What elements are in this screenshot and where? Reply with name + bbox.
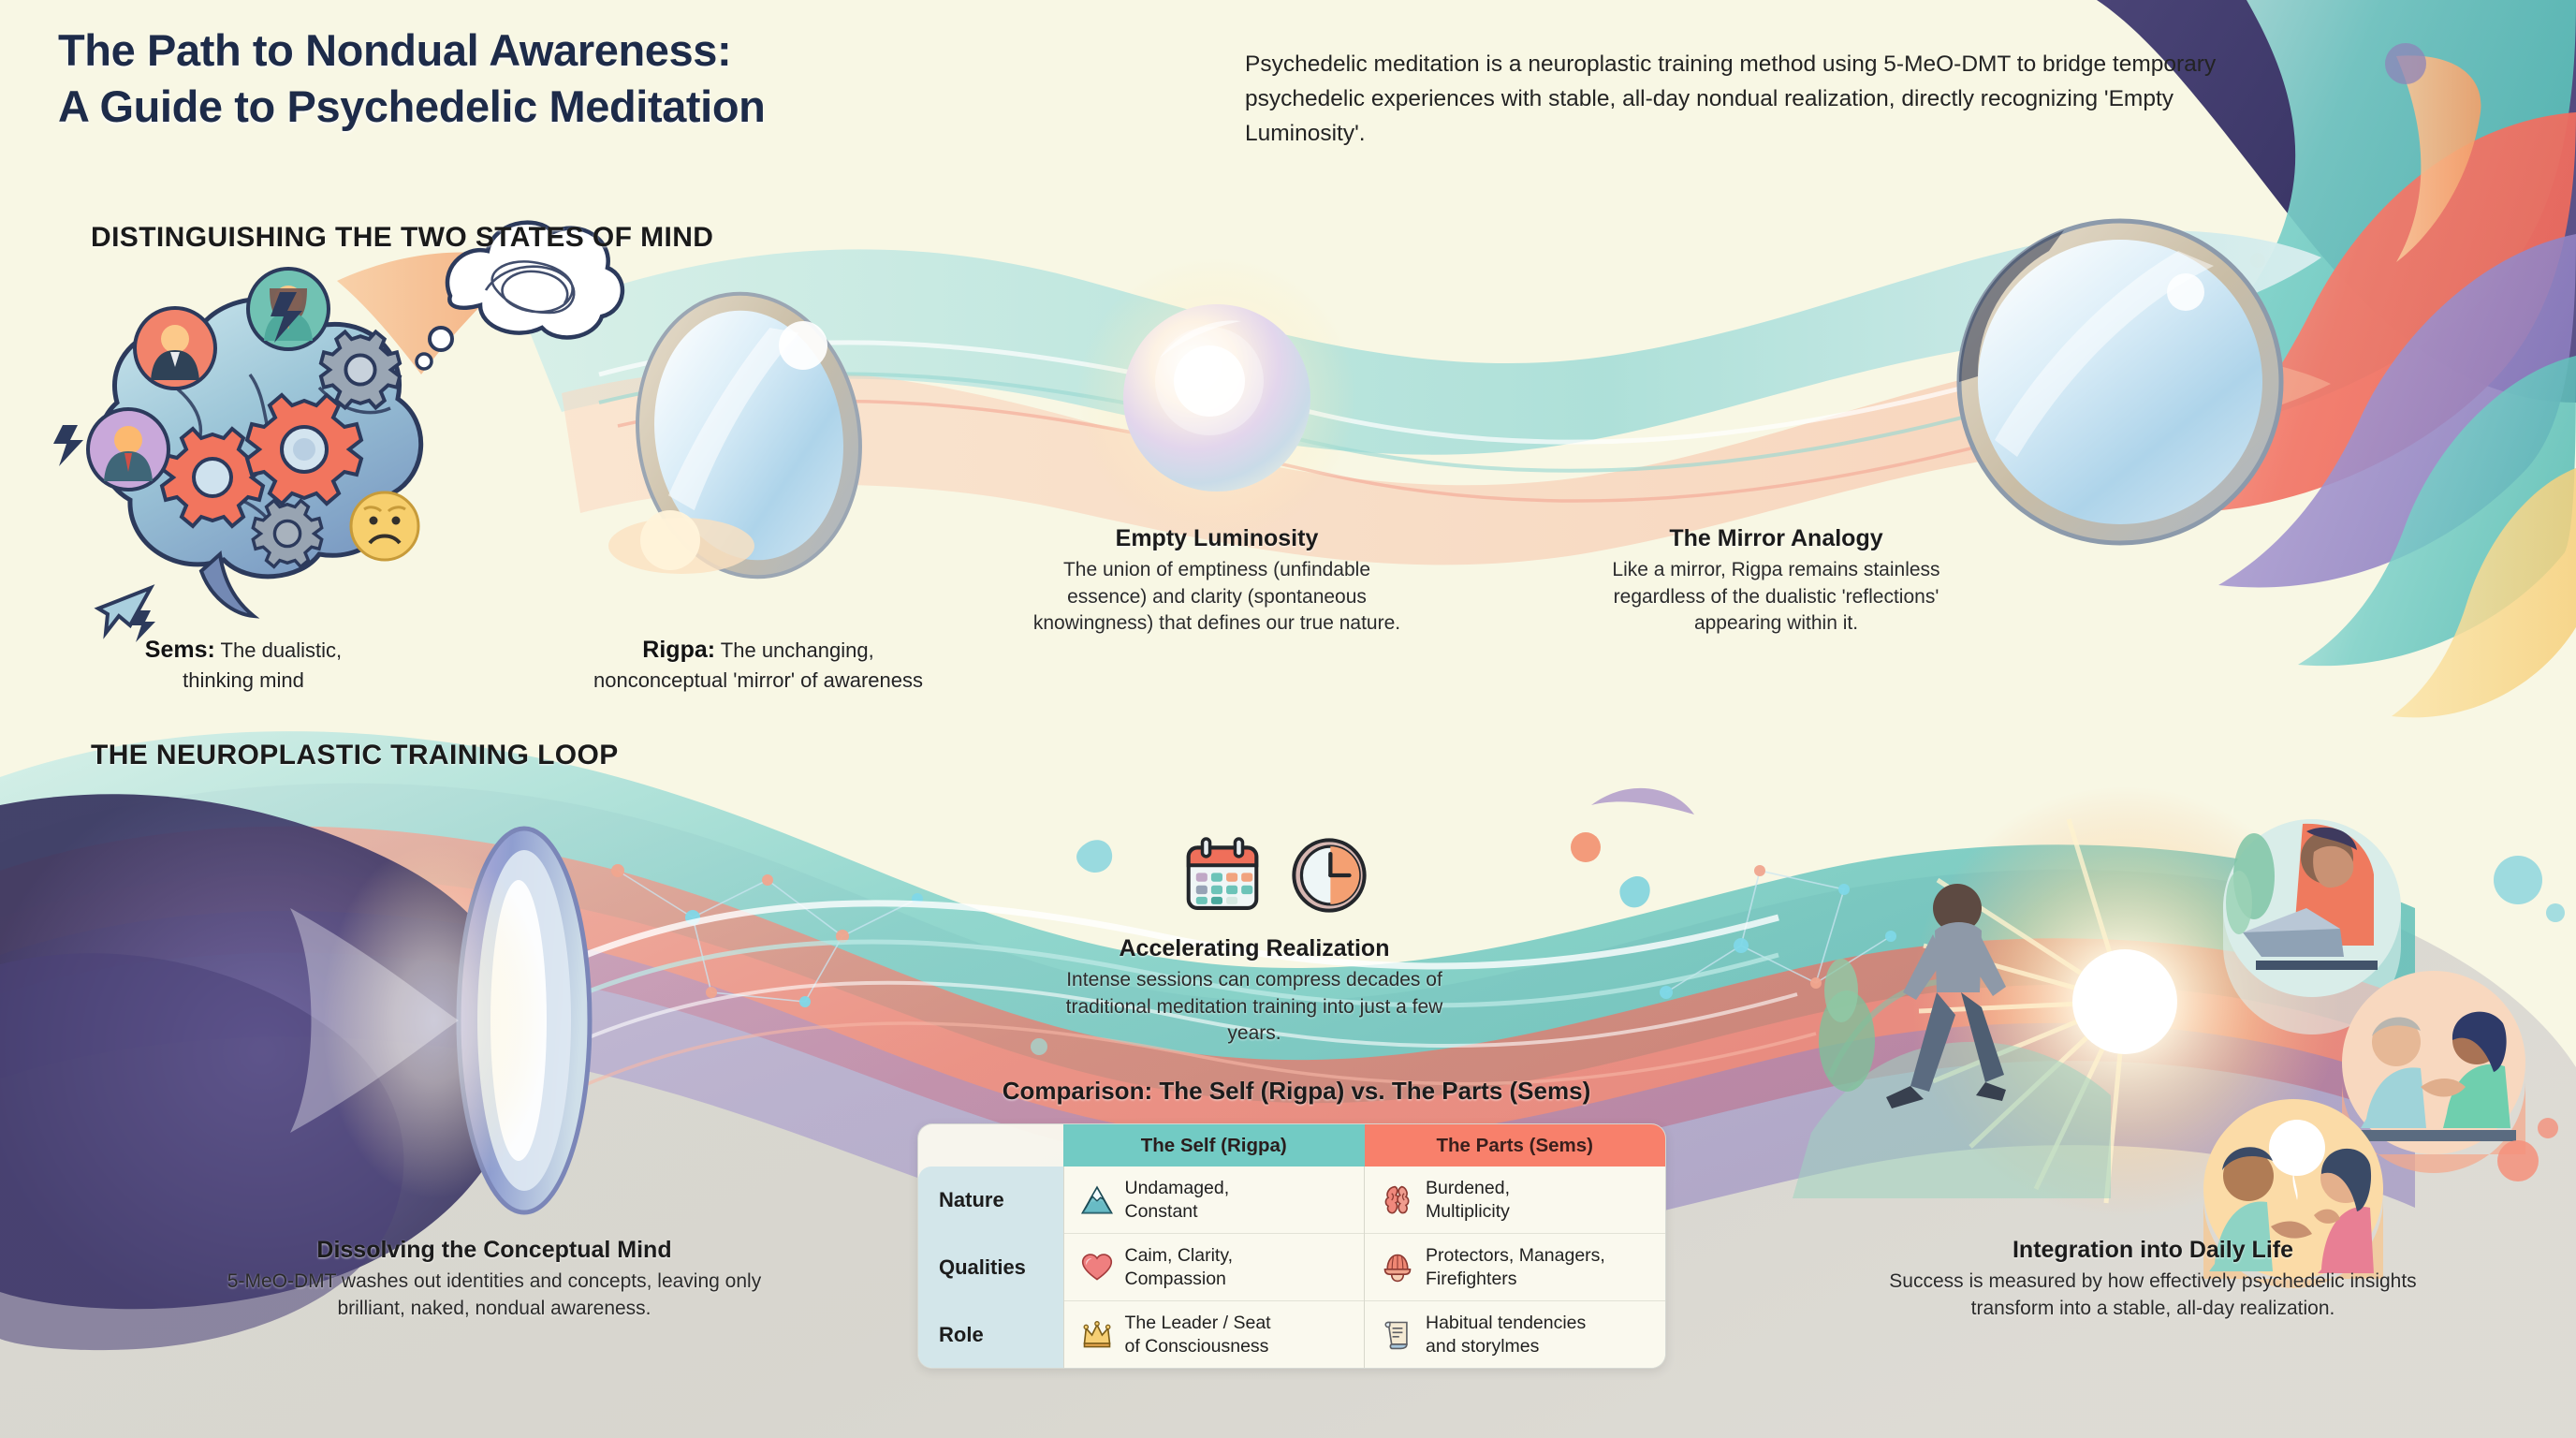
section-heading-two-states: DISTINGUISHING THE TWO STATES OF MIND (91, 222, 713, 254)
cell-text: Burdened, Multiplicity (1426, 1177, 1510, 1223)
cell-text: Undamaged, Constant (1125, 1177, 1230, 1223)
infographic-canvas: The Path to Nondual Awareness: A Guide t… (0, 0, 2576, 1438)
caption-sems-rest: The dualistic, (215, 638, 342, 662)
block-desc: Success is measured by how effectively p… (1863, 1269, 2443, 1322)
caption-rigpa-line2: nonconceptual 'mirror' of awareness (593, 668, 923, 692)
cell-text: Habitual tendencies and storylmes (1426, 1312, 1586, 1357)
block-desc: The union of emptiness (unfindable essen… (1025, 557, 1409, 638)
cell-self: The Leader / Seat of Consciousness (1063, 1301, 1365, 1369)
caption-rigpa-term: Rigpa: (642, 637, 715, 663)
cell-self: Caim, Clarity, Compassion (1063, 1234, 1365, 1301)
comparison-table: The Self (Rigpa) The Parts (Sems) Nature (917, 1123, 1666, 1369)
cell-text: The Leader / Seat of Consciousness (1125, 1312, 1271, 1357)
heart-icon (1079, 1250, 1115, 1285)
block-integration-daily-life: Integration into Daily Life Success is m… (1863, 1236, 2443, 1322)
table-row: Nature (918, 1167, 1665, 1234)
page-title-line1: The Path to Nondual Awareness: (58, 22, 1219, 79)
cell-parts: Habitual tendencies and storylmes (1365, 1301, 1666, 1369)
cell-self: Undamaged, Constant (1063, 1167, 1365, 1234)
calendar-icon (1182, 835, 1263, 916)
cell-parts: Protectors, Managers, Firefighters (1365, 1234, 1666, 1301)
table-row: Qualities Caim, Clarity (918, 1234, 1665, 1301)
cell-text: Caim, Clarity, Compassion (1125, 1244, 1234, 1290)
clock-icon (1289, 835, 1369, 916)
row-label: Role (918, 1301, 1063, 1369)
caption-sems: Sems: The dualistic, thinking mind (103, 635, 384, 694)
block-desc: Intense sessions can compress decades of… (1048, 967, 1460, 1048)
caption-sems-line2: thinking mind (183, 668, 304, 692)
page-title-line2: A Guide to Psychedelic Meditation (58, 79, 1219, 135)
text-layer: The Path to Nondual Awareness: A Guide t… (0, 0, 2576, 1438)
cell-parts: Burdened, Multiplicity (1365, 1167, 1666, 1234)
accelerating-icons (1149, 829, 1402, 922)
cell-text: Protectors, Managers, Firefighters (1426, 1244, 1605, 1290)
caption-rigpa-rest: The unchanging, (715, 638, 874, 662)
table-corner-cell (918, 1124, 1063, 1167)
firefighter-helmet-icon (1380, 1250, 1415, 1285)
table-header-parts: The Parts (Sems) (1365, 1124, 1666, 1167)
page-title: The Path to Nondual Awareness: A Guide t… (58, 22, 1219, 135)
block-title: Dissolving the Conceptual Mind (213, 1236, 775, 1264)
comparison-title: Comparison: The Self (Rigpa) vs. The Par… (927, 1077, 1666, 1106)
row-label: Nature (918, 1167, 1063, 1234)
section-heading-training-loop: THE NEUROPLASTIC TRAINING LOOP (91, 740, 619, 771)
block-accelerating-realization: Accelerating Realization Intense session… (1048, 934, 1460, 1048)
block-mirror-analogy: The Mirror Analogy Like a mirror, Rigpa … (1582, 524, 1970, 638)
block-desc: 5-MeO-DMT washes out identities and conc… (213, 1269, 775, 1322)
block-empty-luminosity: Empty Luminosity The union of emptiness … (1025, 524, 1409, 638)
scroll-icon (1380, 1317, 1415, 1353)
block-title: Accelerating Realization (1048, 934, 1460, 962)
table-row: Role (918, 1301, 1665, 1369)
block-dissolving-conceptual-mind: Dissolving the Conceptual Mind 5-MeO-DMT… (213, 1236, 775, 1322)
table-header-row: The Self (Rigpa) The Parts (Sems) (918, 1124, 1665, 1167)
row-label: Qualities (918, 1234, 1063, 1301)
intro-paragraph: Psychedelic meditation is a neuroplastic… (1245, 47, 2293, 152)
crown-icon (1079, 1317, 1115, 1353)
table-header-self: The Self (Rigpa) (1063, 1124, 1365, 1167)
brain-parts-icon (1380, 1182, 1415, 1218)
block-title: Integration into Daily Life (1863, 1236, 2443, 1264)
block-title: The Mirror Analogy (1582, 524, 1970, 552)
block-title: Empty Luminosity (1025, 524, 1409, 552)
block-desc: Like a mirror, Rigpa remains stainless r… (1582, 557, 1970, 638)
caption-rigpa: Rigpa: The unchanging, nonconceptual 'mi… (562, 635, 955, 694)
mountain-icon (1079, 1182, 1115, 1218)
caption-sems-term: Sems: (145, 637, 215, 663)
